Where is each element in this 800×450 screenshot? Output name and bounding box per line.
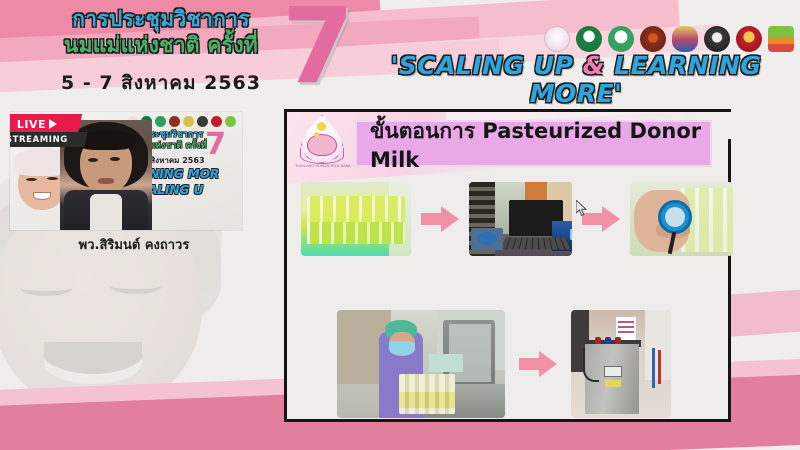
conference-title-thai: การประชุมวิชาการ นมแม่แห่งชาติ ครั้งที่: [26, 6, 296, 58]
conference-title-line1: การประชุมวิชาการ: [26, 6, 296, 32]
conference-header: การประชุมวิชาการ นมแม่แห่งชาติ ครั้งที่ …: [0, 0, 800, 108]
right-arrow-icon: [519, 351, 557, 377]
slide-title: ขั้นตอนการ Pasteurized Donor Milk: [357, 115, 710, 172]
slide-capture: การประชุมวิชาการ นมแม่แห่งชาติ ครั้งที่ …: [0, 0, 800, 450]
play-icon: [49, 119, 57, 129]
right-arrow-icon: [421, 206, 459, 232]
ministry-of-public-health-logo: [608, 26, 634, 52]
photo-milk-bottle-racks: [301, 182, 411, 256]
red-institute-logo: [736, 26, 762, 52]
photo-laptop-record: [469, 182, 572, 256]
conference-date: 5 - 7 สิงหาคม 2563: [26, 68, 296, 98]
process-row-bottom: [337, 310, 717, 418]
royal-emblem-logo: [640, 26, 666, 52]
live-stream-video[interactable]: การประชุมวิชาการ นมแม่แห่งชาติ ครั้งที่ …: [10, 112, 242, 230]
thaihealth-sss-logo: [768, 26, 794, 52]
presentation-slide-panel: THAILAND HUMAN MILK BANK ขั้นตอนการ Past…: [284, 109, 731, 422]
tagline-prefix: 'SCALING UP: [391, 51, 583, 80]
royal-garuda-logo: [672, 26, 698, 52]
slide-title-box: ขั้นตอนการ Pasteurized Donor Milk: [355, 120, 712, 167]
live-badge-label: LIVE: [17, 118, 46, 131]
tagline-ampersand: &: [583, 51, 605, 80]
photo-nurse-loading-bottles: [337, 310, 505, 418]
university-seal-logo: [704, 26, 730, 52]
sponsor-logo-row: [544, 26, 794, 52]
conference-tagline: 'SCALING UP & LEARNING MORE': [360, 52, 792, 108]
live-badge: LIVE: [10, 114, 82, 134]
human-milk-bank-drop-logo: THAILAND HUMAN MILK BANK: [291, 114, 355, 176]
org-logo-caption: THAILAND HUMAN MILK BANK: [291, 164, 355, 168]
mouse-pointer: [576, 200, 588, 216]
photo-thermometer-check: [630, 182, 733, 256]
conference-title-line2: นมแม่แห่งชาติ ครั้งที่: [26, 32, 296, 58]
speaker-name: พว.สิริมนต์ คงถาวร: [18, 234, 250, 255]
photo-pasteurizer-machine: [571, 310, 671, 418]
thai-breastfeeding-center-logo: [576, 26, 602, 52]
conference-edition-number: 7: [282, 0, 354, 98]
royal-patronage-logo: [544, 26, 570, 52]
process-row-top: [301, 182, 721, 256]
streaming-badge-label: STREAMING: [10, 135, 68, 145]
streaming-badge: STREAMING: [10, 132, 88, 147]
